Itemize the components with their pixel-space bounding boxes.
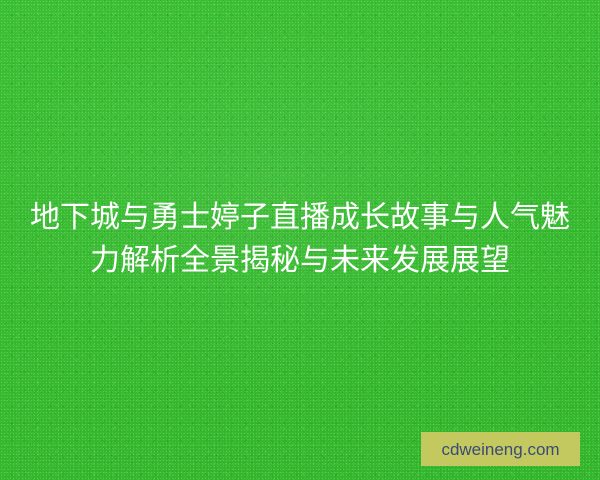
watermark-text: cdweineng.com (441, 441, 559, 458)
headline-title: 地下城与勇士婷子直播成长故事与人气魅 力解析全景揭秘与未来发展展望 (0, 196, 600, 282)
image-canvas: 地下城与勇士婷子直播成长故事与人气魅 力解析全景揭秘与未来发展展望 cdwein… (0, 0, 600, 480)
headline-line-2: 力解析全景揭秘与未来发展展望 (16, 239, 584, 282)
headline-line-1: 地下城与勇士婷子直播成长故事与人气魅 (16, 196, 584, 239)
watermark-badge: cdweineng.com (421, 432, 580, 466)
